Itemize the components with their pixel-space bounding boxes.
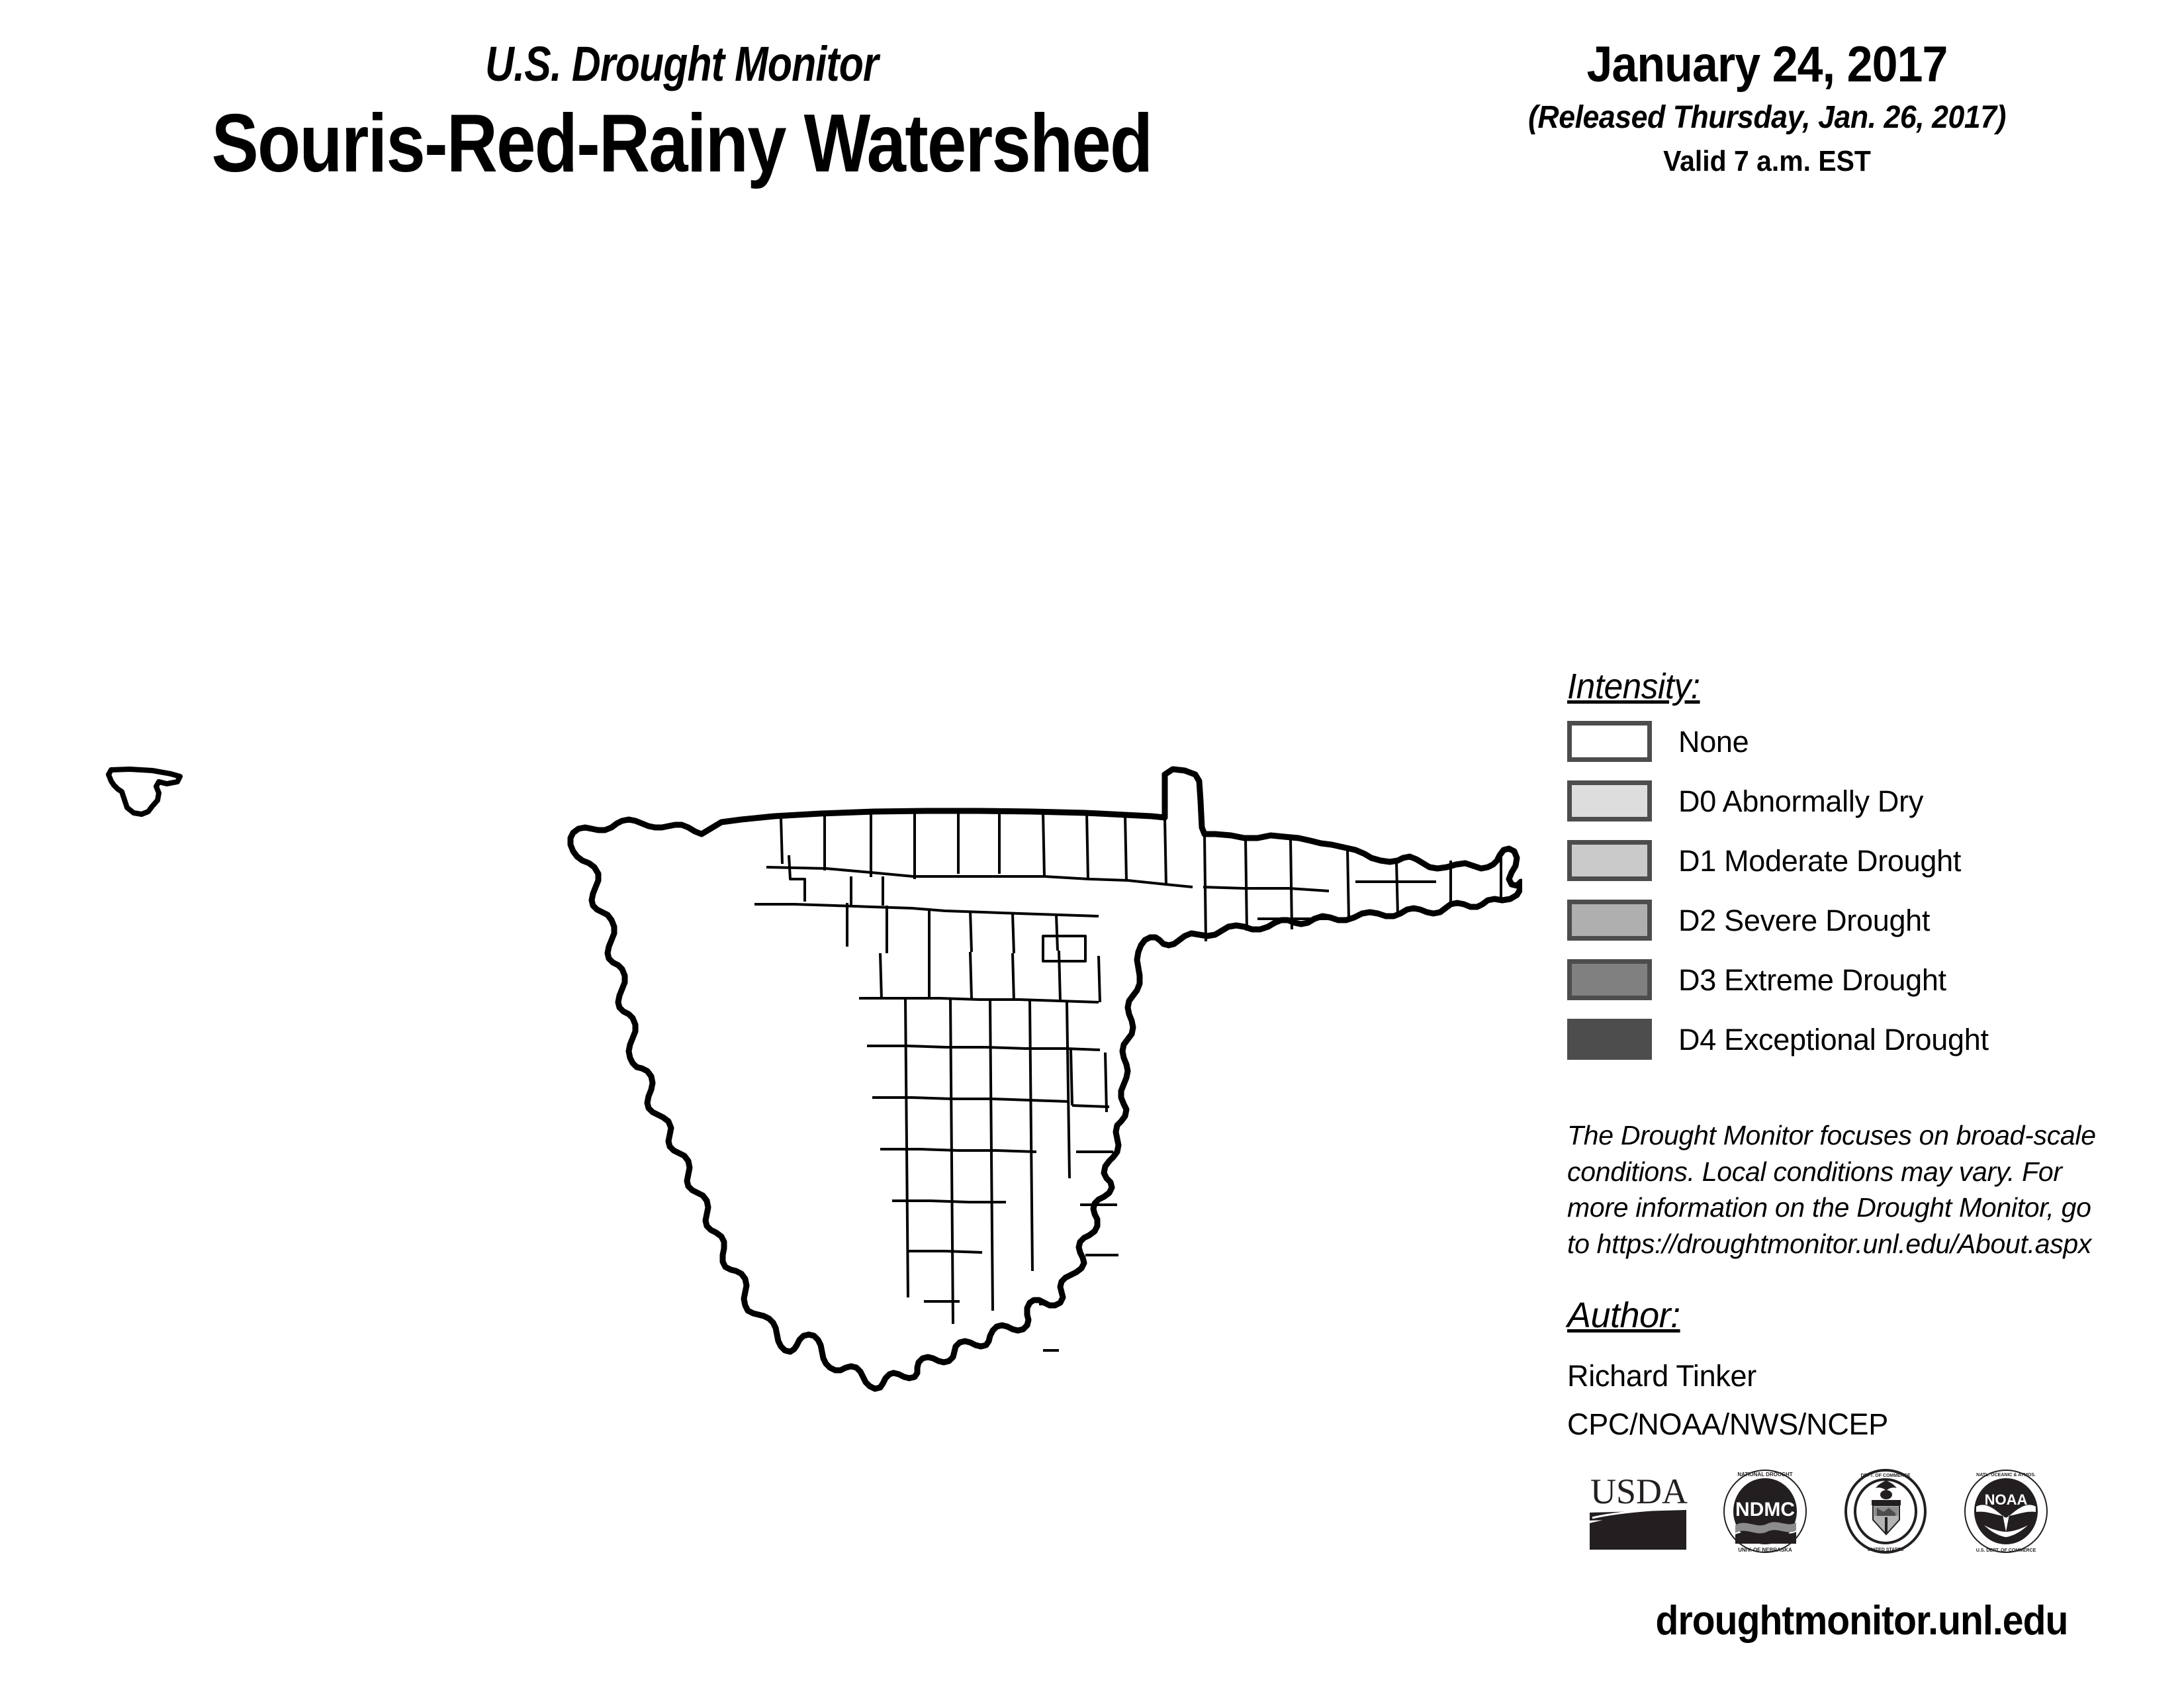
agency-logos: USDA NDMC NATIONAL DROUGHT UNIV. OF NEBR… (1588, 1466, 2164, 1559)
legend-label-d2: D2 Severe Drought (1678, 906, 1930, 935)
site-url[interactable]: droughtmonitor.unl.edu (1591, 1601, 2133, 1642)
release-date: (Released Thursday, Jan. 26, 2017) (1472, 102, 2063, 134)
svg-text:DEPT. OF COMMERCE: DEPT. OF COMMERCE (1860, 1474, 1910, 1478)
author-heading: Author: (1567, 1297, 1680, 1333)
legend-label-none: None (1678, 727, 1749, 757)
page-title: Souris-Red-Rainy Watershed (95, 101, 1268, 187)
legend-item-none[interactable]: None (1567, 719, 2163, 764)
legend-swatch-d3 (1567, 959, 1652, 1000)
intensity-legend: Intensity: None D0 Abnormally Dry D1 Mod… (1567, 669, 2163, 1062)
ndmc-logo[interactable]: NDMC NATIONAL DROUGHT UNIV. OF NEBRASKA (1722, 1468, 1808, 1558)
legend-label-d1: D1 Moderate Drought (1678, 846, 1961, 876)
watershed-outline-group (570, 769, 1521, 1389)
valid-date: January 24, 2017 (1475, 40, 2059, 90)
drought-monitor-kicker: U.S. Drought Monitor (122, 40, 1240, 89)
svg-text:U.S. DEPT. OF COMMERCE: U.S. DEPT. OF COMMERCE (1976, 1548, 2036, 1553)
noaa-logo[interactable]: NOAA NATL. OCEANIC & ATMOS. U.S. DEPT. O… (1963, 1468, 2049, 1558)
legend-label-d0: D0 Abnormally Dry (1678, 786, 1923, 816)
legend-item-d4[interactable]: D4 Exceptional Drought (1567, 1017, 2163, 1062)
legend-swatch-none (1567, 721, 1652, 762)
svg-text:NDMC: NDMC (1735, 1499, 1795, 1521)
doc-logo[interactable]: DEPT. OF COMMERCE UNITED STATES (1843, 1468, 1929, 1558)
watershed-boundary (570, 769, 1521, 1389)
title-block: U.S. Drought Monitor Souris-Red-Rainy Wa… (0, 40, 1363, 187)
author-affiliation: CPC/NOAA/NWS/NCEP (1567, 1409, 2116, 1439)
legend-item-d3[interactable]: D3 Extreme Drought (1567, 957, 2163, 1002)
legend-swatch-d0 (1567, 780, 1652, 821)
legend-label-d4: D4 Exceptional Drought (1678, 1025, 1989, 1055)
svg-text:UNITED STATES: UNITED STATES (1868, 1548, 1904, 1552)
date-block: January 24, 2017 (Released Thursday, Jan… (1449, 40, 2085, 176)
legend-swatch-d4 (1567, 1019, 1652, 1060)
svg-text:NATL. OCEANIC & ATMOS.: NATL. OCEANIC & ATMOS. (1976, 1473, 2036, 1477)
drought-monitor-page: U.S. Drought Monitor Souris-Red-Rainy Wa… (0, 0, 2184, 1688)
svg-text:NATIONAL DROUGHT: NATIONAL DROUGHT (1737, 1472, 1792, 1477)
svg-text:UNIV. OF NEBRASKA: UNIV. OF NEBRASKA (1738, 1547, 1792, 1553)
usda-logo[interactable]: USDA (1588, 1469, 1688, 1557)
legend-item-d2[interactable]: D2 Severe Drought (1567, 898, 2163, 943)
svg-text:USDA: USDA (1590, 1472, 1688, 1511)
legend-item-d0[interactable]: D0 Abnormally Dry (1567, 778, 2163, 823)
author-block: Author: Richard Tinker CPC/NOAA/NWS/NCEP (1567, 1297, 2116, 1439)
disclaimer-text: The Drought Monitor focuses on broad-sca… (1567, 1117, 2116, 1262)
map-outlier-polygon (109, 769, 180, 814)
valid-time: Valid 7 a.m. EST (1472, 147, 2063, 176)
legend-item-d1[interactable]: D1 Moderate Drought (1567, 838, 2163, 883)
svg-text:NOAA: NOAA (1985, 1491, 2028, 1508)
legend-swatch-d2 (1567, 900, 1652, 941)
watershed-map[interactable] (0, 252, 1522, 1476)
legend-label-d3: D3 Extreme Drought (1678, 965, 1946, 995)
legend-swatch-d1 (1567, 840, 1652, 881)
legend-heading: Intensity: (1567, 669, 1700, 704)
author-name: Richard Tinker (1567, 1361, 2116, 1391)
